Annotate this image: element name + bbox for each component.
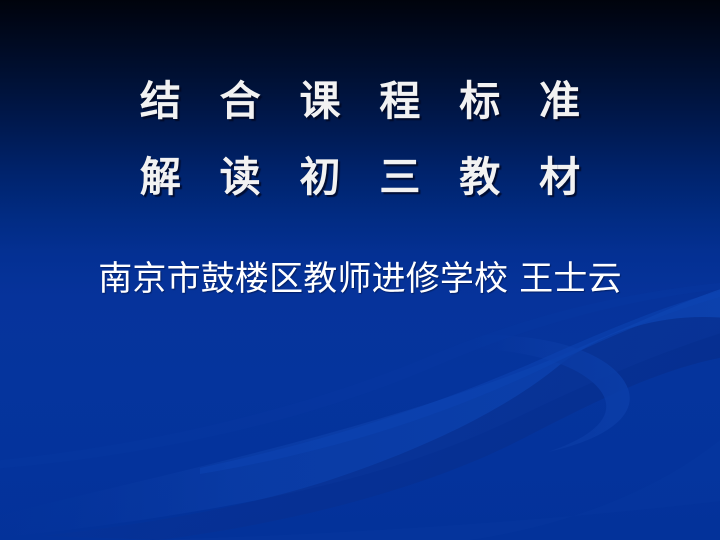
swoosh-crest-line: [200, 290, 720, 474]
swoosh-hook-arc: [448, 335, 630, 452]
swoosh-ribbon-lower: [0, 286, 720, 540]
swoosh-ribbon-inner: [40, 317, 720, 540]
title-line-1: 结 合 课 程 标 准: [0, 63, 720, 139]
swoosh-faint-sweep: [0, 282, 720, 470]
subtitle-line-1: 南京市鼓楼区教师进修学校 王士云: [0, 256, 720, 302]
slide-canvas: 结 合 课 程 标 准 解 读 初 三 教 材 南京市鼓楼区教师进修学校 王士云: [0, 0, 720, 540]
swoosh-corner-band: [150, 432, 720, 540]
title-block: 结 合 课 程 标 准 解 读 初 三 教 材: [0, 63, 720, 215]
title-line-2: 解 读 初 三 教 材: [0, 139, 720, 215]
subtitle-block: 南京市鼓楼区教师进修学校 王士云: [0, 256, 720, 302]
